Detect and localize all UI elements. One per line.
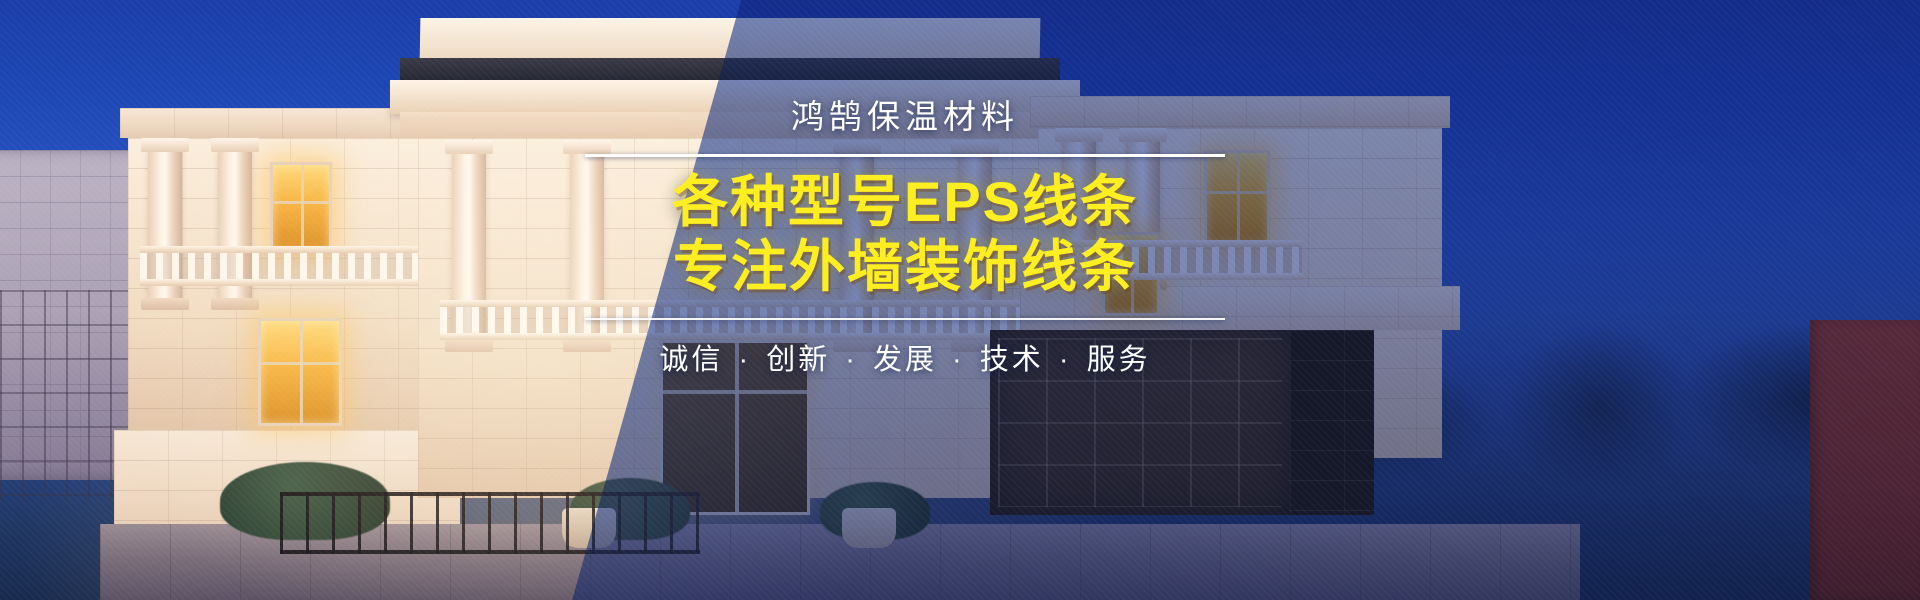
divider-bottom [585, 318, 1225, 320]
balustrade-left [140, 246, 440, 286]
tagline-item: 创新 [766, 344, 830, 376]
promo-banner: 鸿鹄保温材料 各种型号EPS线条 专注外墙装饰线条 诚信 · 创新 · 发展 ·… [0, 0, 1920, 600]
banner-text-block: 鸿鹄保温材料 各种型号EPS线条 专注外墙装饰线条 诚信 · 创新 · 发展 ·… [585, 96, 1225, 378]
tagline-separator: · [937, 344, 980, 376]
tagline-separator: · [1044, 344, 1087, 376]
divider-top [585, 154, 1225, 157]
tagline-item: 发展 [873, 344, 937, 376]
tagline-item: 服务 [1087, 344, 1151, 376]
tagline-item: 诚信 [659, 344, 723, 376]
window-left-lower [258, 318, 342, 426]
headline-line-2: 专注外墙装饰线条 [585, 235, 1225, 300]
tagline-item: 技术 [980, 344, 1044, 376]
tagline: 诚信 · 创新 · 发展 · 技术 · 服务 [585, 336, 1225, 378]
tagline-separator: · [723, 344, 766, 376]
window-left-upper [270, 162, 332, 254]
headline-line-1: 各种型号EPS线条 [585, 170, 1225, 235]
brand-name: 鸿鹄保温材料 [585, 96, 1225, 137]
tagline-separator: · [830, 344, 873, 376]
